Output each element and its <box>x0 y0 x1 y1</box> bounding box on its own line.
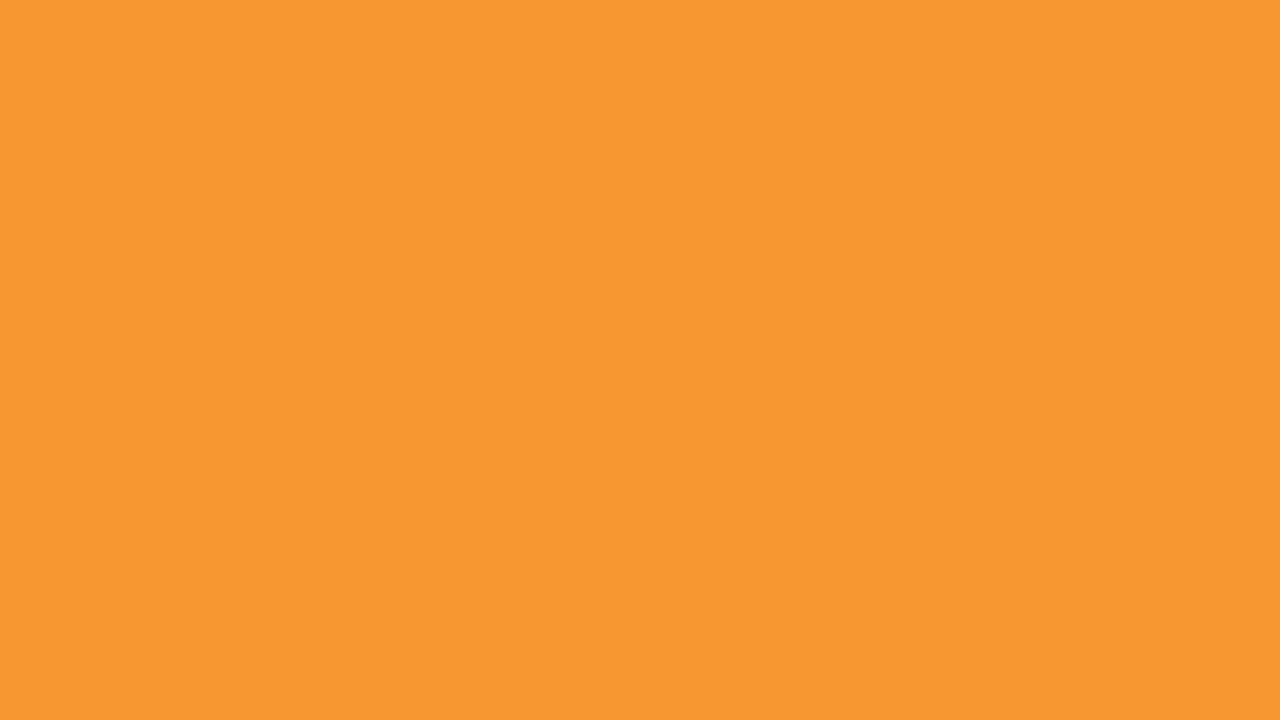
ribbon-center: 크립토 인싸 <box>78 137 258 167</box>
caption-line-1-fill: 매일 엄선된 소식 <box>84 449 648 533</box>
logo-main-label: 경제연구소 <box>65 71 271 140</box>
caption-line-2: 지금 확인하세요 지금 확인하세요 <box>84 541 648 625</box>
channel-logo: 빗썸 빗썸 경제연구소 경제연구소 크립토 인싸 <box>52 25 284 185</box>
caption-block: 매일 엄선된 소식 매일 엄선된 소식 지금 확인하세요 지금 확인하세요 <box>84 449 648 625</box>
logo-ribbon: 크립토 인싸 <box>64 137 272 167</box>
logo-top-label: 빗썸 <box>138 27 199 76</box>
ribbon-label: 크립토 인싸 <box>128 140 208 165</box>
caption-line-1: 매일 엄선된 소식 매일 엄선된 소식 <box>84 449 648 533</box>
scene: 빗썸 빗썸 경제연구소 경제연구소 크립토 인싸 매일 엄선된 소식 매일 엄선… <box>12 11 1268 703</box>
caption-line-2-fill: 지금 확인하세요 <box>84 541 624 625</box>
thumbnail-canvas: 빗썸 빗썸 경제연구소 경제연구소 크립토 인싸 매일 엄선된 소식 매일 엄선… <box>0 0 1280 720</box>
